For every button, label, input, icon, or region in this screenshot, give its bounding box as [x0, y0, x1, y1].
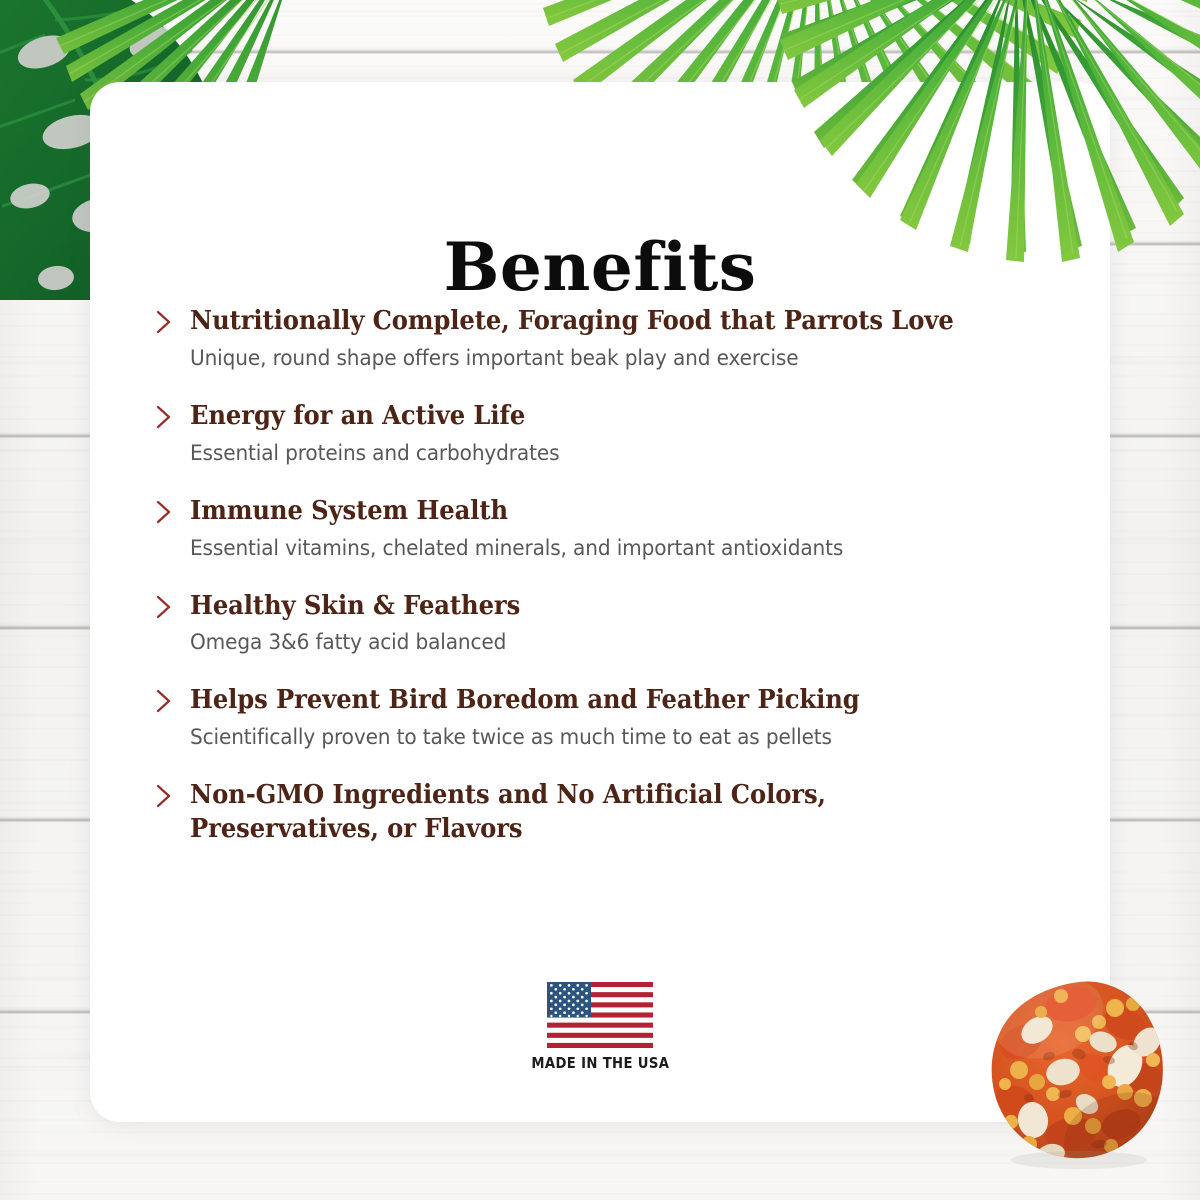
chevron-right-icon	[154, 498, 174, 526]
benefit-item: Non-GMO Ingredients and No Artificial Co…	[148, 778, 1078, 846]
chevron-right-icon	[154, 403, 174, 431]
benefit-title: Energy for an Active Life	[190, 399, 1003, 433]
infographic-canvas: Benefits Nutritionally Complete, Foragin…	[0, 0, 1200, 1200]
benefit-title: Immune System Health	[190, 494, 1003, 528]
benefit-item: Healthy Skin & Feathers Omega 3&6 fatty …	[148, 589, 1078, 658]
page-title: Benefits	[90, 234, 1110, 300]
benefit-subtitle: Essential vitamins, chelated minerals, a…	[190, 535, 1020, 563]
benefit-subtitle: Omega 3&6 fatty acid balanced	[190, 629, 1020, 657]
benefits-card: Benefits Nutritionally Complete, Foragin…	[90, 82, 1110, 1122]
benefit-item: Immune System Health Essential vitamins,…	[148, 494, 1078, 563]
benefit-subtitle: Scientifically proven to take twice as m…	[190, 724, 1020, 752]
benefit-title: Nutritionally Complete, Foraging Food th…	[190, 304, 1003, 338]
benefit-subtitle: Essential proteins and carbohydrates	[190, 440, 1020, 468]
benefits-list: Nutritionally Complete, Foraging Food th…	[148, 304, 1078, 846]
made-in-usa-badge: MADE IN THE USA	[90, 982, 1110, 1072]
chevron-right-icon	[154, 308, 174, 336]
benefit-item: Nutritionally Complete, Foraging Food th…	[148, 304, 1078, 373]
made-in-usa-label: MADE IN THE USA	[531, 1054, 669, 1072]
benefit-item: Energy for an Active Life Essential prot…	[148, 399, 1078, 468]
chevron-right-icon	[154, 687, 174, 715]
benefit-title: Healthy Skin & Feathers	[190, 589, 1003, 623]
benefit-title: Helps Prevent Bird Boredom and Feather P…	[190, 683, 1003, 717]
benefit-title: Non-GMO Ingredients and No Artificial Co…	[190, 778, 1003, 846]
chevron-right-icon	[154, 782, 174, 810]
chevron-right-icon	[154, 593, 174, 621]
benefit-subtitle: Unique, round shape offers important bea…	[190, 345, 1020, 373]
benefit-item: Helps Prevent Bird Boredom and Feather P…	[148, 683, 1078, 752]
american-flag-icon	[547, 982, 653, 1048]
